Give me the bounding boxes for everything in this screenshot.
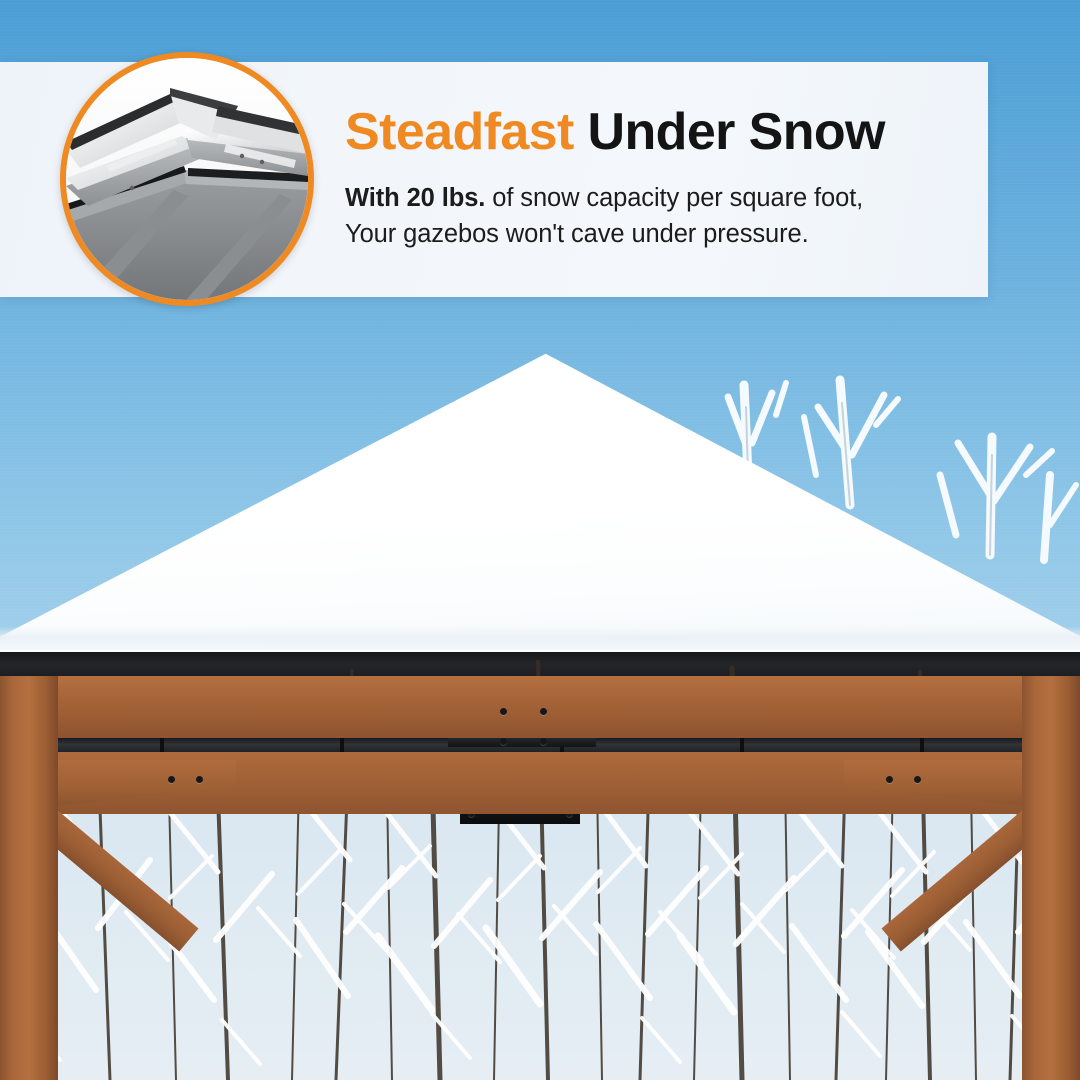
- subtitle-line-two: Your gazebos won't cave under pressure.: [345, 220, 809, 248]
- banner-text-block: Steadfast Under Snow With 20 lbs. of sno…: [345, 62, 965, 297]
- beam-bolt: [540, 738, 547, 745]
- gazebo-post-left: [0, 676, 58, 1080]
- beam-bolt: [500, 738, 507, 745]
- roof-detail-photo-badge: [60, 52, 314, 306]
- gazebo-main-beam: [0, 676, 1080, 738]
- subtitle-rest: of snow capacity per square foot,: [485, 184, 863, 212]
- headline-rest: Under Snow: [574, 103, 885, 161]
- banner-subtitle: With 20 lbs. of snow capacity per square…: [345, 180, 960, 252]
- beam-bolt: [500, 708, 507, 715]
- beam-bolt: [540, 708, 547, 715]
- corbel-bolt: [886, 776, 893, 783]
- snow-roof-lower-shadow-band: [0, 626, 1080, 652]
- corbel-bolt: [914, 776, 921, 783]
- subtitle-bold-phrase: With 20 lbs.: [345, 184, 485, 212]
- gazebo-snow-roof: [0, 330, 1080, 675]
- metal-roof-ridge-icon: [66, 58, 308, 300]
- headline-accent-word: Steadfast: [345, 103, 574, 161]
- corbel-bolt: [168, 776, 175, 783]
- snow-surface: [0, 330, 1080, 670]
- banner-headline: Steadfast Under Snow: [345, 106, 885, 158]
- gazebo-post-right: [1022, 676, 1080, 1080]
- marketing-image: Steadfast Under Snow With 20 lbs. of sno…: [0, 0, 1080, 1080]
- corbel-bolt: [196, 776, 203, 783]
